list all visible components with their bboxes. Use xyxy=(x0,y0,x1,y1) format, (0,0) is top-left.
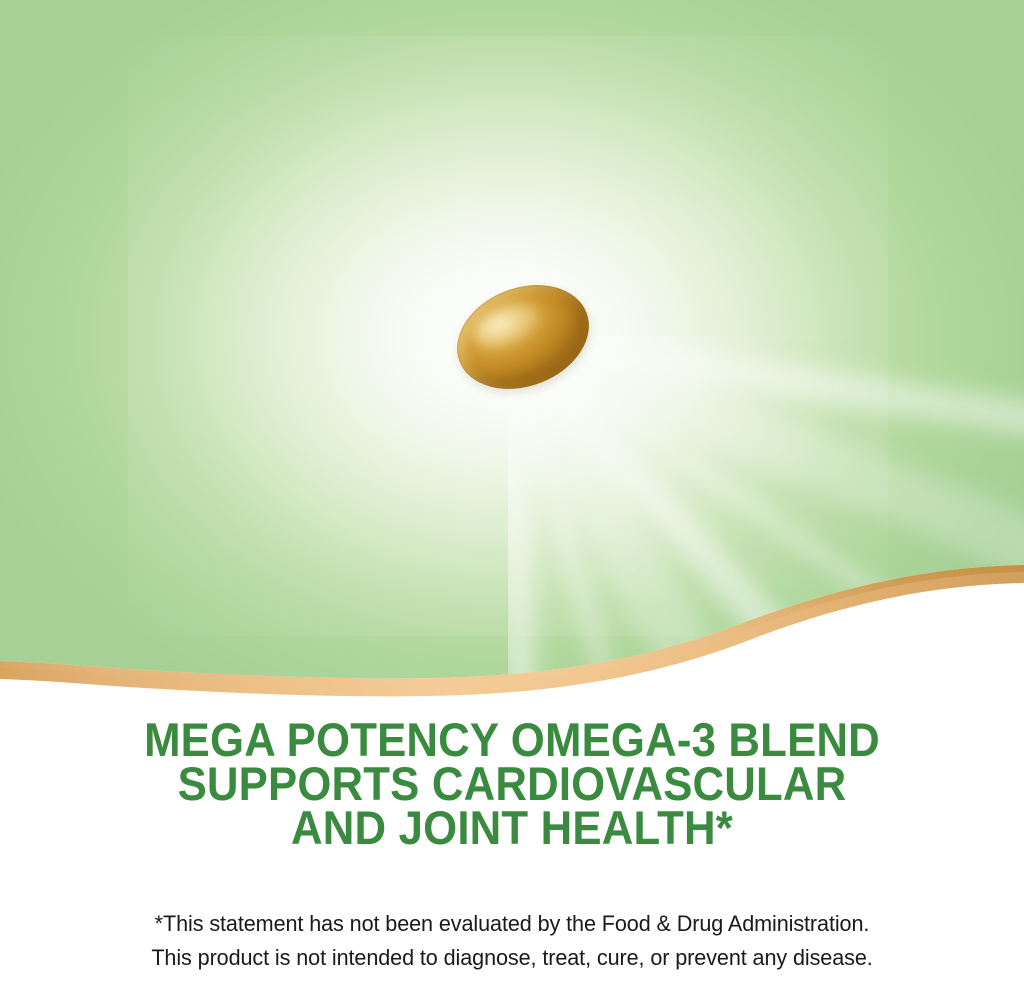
ray xyxy=(503,329,1024,700)
ray xyxy=(0,0,516,340)
benefit-headline: MEGA POTENCY OMEGA-3 BLEND SUPPORTS CARD… xyxy=(36,718,988,850)
ray xyxy=(0,314,525,700)
ray xyxy=(0,0,519,349)
ray xyxy=(0,326,521,700)
disclaimer-line-1: *This statement has not been evaluated b… xyxy=(20,907,1003,941)
ray xyxy=(495,325,1024,700)
ray xyxy=(0,0,531,352)
ray xyxy=(0,332,516,700)
headline-line-3: AND JOINT HEALTH* xyxy=(36,806,988,850)
headline-line-1: MEGA POTENCY OMEGA-3 BLEND xyxy=(36,718,988,762)
ray xyxy=(0,328,512,700)
ray xyxy=(499,334,930,700)
ray xyxy=(0,0,514,363)
ray xyxy=(502,0,1024,343)
hero-area xyxy=(0,0,1024,700)
ray xyxy=(484,322,1024,700)
copy-block: MEGA POTENCY OMEGA-3 BLEND SUPPORTS CARD… xyxy=(0,718,1024,975)
ray xyxy=(205,0,525,339)
product-benefit-panel: MEGA POTENCY OMEGA-3 BLEND SUPPORTS CARD… xyxy=(0,0,1024,991)
disclaimer-line-2: This product is not intended to diagnose… xyxy=(20,941,1003,975)
headline-line-2: SUPPORTS CARDIOVASCULAR xyxy=(36,762,988,806)
ray xyxy=(0,0,512,344)
ray xyxy=(0,319,510,561)
fda-disclaimer: *This statement has not been evaluated b… xyxy=(20,850,1003,975)
